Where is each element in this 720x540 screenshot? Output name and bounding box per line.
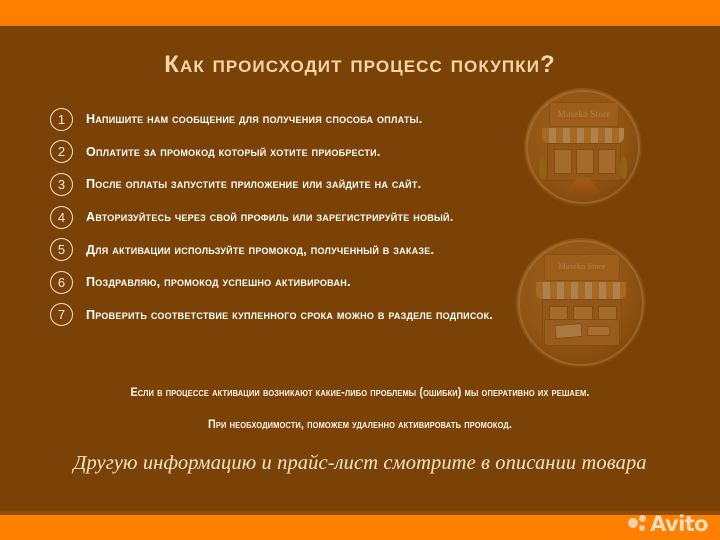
list-item: 5 Для активации используйте промокод, по… xyxy=(50,233,650,266)
step-text: Для активации используйте промокод, полу… xyxy=(86,243,434,257)
support-note-line-2: При необходимости, поможем удаленно акти… xyxy=(25,418,695,431)
promo-poster: Museko Store Museko Store xyxy=(0,0,720,540)
list-item: 4 Авторизуйтесь через свой профиль или з… xyxy=(50,201,650,234)
bottom-accent-bar xyxy=(0,511,720,540)
step-number-badge: 7 xyxy=(50,303,73,326)
list-item: 6 Поздравляю, промокод успешно активиров… xyxy=(50,266,650,299)
step-text: Напишите нам сообщение для получения спо… xyxy=(86,112,422,126)
support-notes: Если в процессе активации возникают каки… xyxy=(0,386,720,431)
step-number-badge: 4 xyxy=(50,206,73,229)
closing-message: Другую информацию и прайс-лист смотрите … xyxy=(0,452,720,475)
step-number-badge: 2 xyxy=(50,140,73,163)
purchase-steps-list: 1 Напишите нам сообщение для получения с… xyxy=(50,103,650,331)
list-item: 3 После оплаты запустите приложение или … xyxy=(50,168,650,201)
avito-brand-label: Avito xyxy=(650,512,708,536)
step-text: Оплатите за промокод который хотите прио… xyxy=(86,145,381,159)
list-item: 7 Проверить соответствие купленного срок… xyxy=(50,299,650,332)
step-number-badge: 1 xyxy=(50,108,73,131)
step-text: Поздравляю, промокод успешно активирован… xyxy=(86,275,351,289)
list-item: 1 Напишите нам сообщение для получения с… xyxy=(50,103,650,136)
avito-watermark: Avito xyxy=(628,511,708,537)
top-accent-bar-edge xyxy=(0,22,720,26)
step-number-badge: 6 xyxy=(50,271,73,294)
step-number-badge: 3 xyxy=(50,173,73,196)
support-note-line-1: Если в процессе активации возникают каки… xyxy=(25,386,695,399)
step-number-badge: 5 xyxy=(50,238,73,261)
step-text: Авторизуйтесь через свой профиль или зар… xyxy=(86,210,454,224)
bottom-accent-bar-edge xyxy=(0,511,720,515)
page-title: Как происходит процесс покупки? xyxy=(0,51,720,79)
step-text: Проверить соответствие купленного срока … xyxy=(86,308,493,322)
step-text: После оплаты запустите приложение или за… xyxy=(86,177,421,191)
avito-dots-icon xyxy=(628,515,647,534)
list-item: 2 Оплатите за промокод который хотите пр… xyxy=(50,136,650,169)
